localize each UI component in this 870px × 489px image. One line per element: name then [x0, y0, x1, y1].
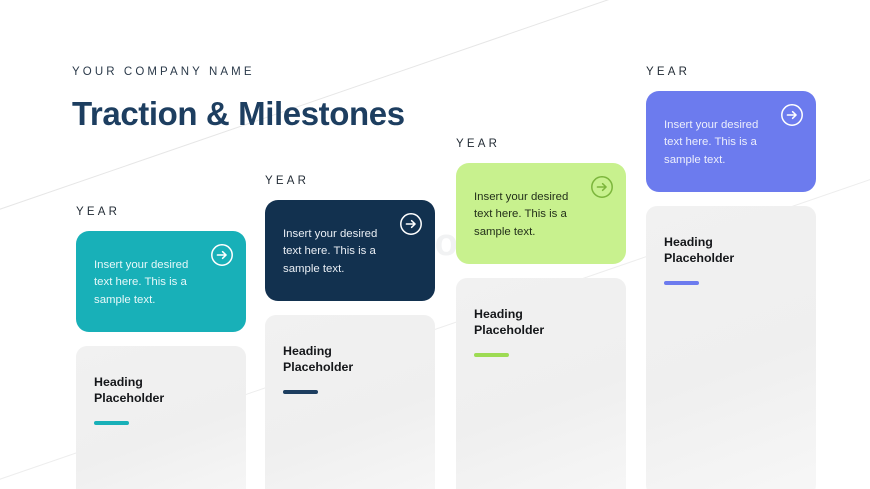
year-label-3: YEAR: [456, 138, 626, 151]
spacer-2: [265, 301, 435, 315]
company-name-eyebrow: YOUR COMPANY NAME: [72, 66, 532, 80]
spacer-1: [76, 332, 246, 346]
milestone-accent-rule-2: [283, 390, 318, 394]
milestone-heading-2: Heading Placeholder: [283, 343, 417, 376]
spacer-3: [456, 264, 626, 278]
milestone-info-card-3[interactable]: Heading Placeholder: [456, 278, 626, 489]
milestone-column-1: YEAR Insert your desired text here. This…: [76, 206, 246, 489]
milestone-info-card-2[interactable]: Heading Placeholder: [265, 315, 435, 489]
milestone-accent-rule-4: [664, 281, 699, 285]
circle-arrow-right-icon[interactable]: [210, 243, 234, 267]
circle-arrow-right-icon[interactable]: [590, 175, 614, 199]
milestone-note-card-1[interactable]: Insert your desired text here. This is a…: [76, 231, 246, 332]
milestone-info-card-1[interactable]: Heading Placeholder: [76, 346, 246, 489]
milestone-heading-3: Heading Placeholder: [474, 306, 608, 339]
circle-arrow-right-icon[interactable]: [780, 103, 804, 127]
slide-header: YOUR COMPANY NAME Traction & Milestones: [72, 66, 532, 132]
milestone-note-card-3[interactable]: Insert your desired text here. This is a…: [456, 163, 626, 264]
milestone-note-text-2: Insert your desired text here. This is a…: [283, 226, 389, 279]
milestone-note-text-4: Insert your desired text here. This is a…: [664, 117, 770, 170]
milestone-heading-1: Heading Placeholder: [94, 374, 228, 407]
milestone-column-4: YEAR Insert your desired text here. This…: [646, 66, 816, 489]
milestone-note-text-1: Insert your desired text here. This is a…: [94, 257, 200, 310]
milestone-accent-rule-1: [94, 421, 129, 425]
year-label-2: YEAR: [265, 175, 435, 188]
milestone-column-2: YEAR Insert your desired text here. This…: [265, 175, 435, 489]
milestone-column-3: YEAR Insert your desired text here. This…: [456, 138, 626, 489]
milestone-note-text-3: Insert your desired text here. This is a…: [474, 189, 580, 242]
year-label-1: YEAR: [76, 206, 246, 219]
milestone-accent-rule-3: [474, 353, 509, 357]
milestone-heading-4: Heading Placeholder: [664, 234, 798, 267]
milestone-info-card-4[interactable]: Heading Placeholder: [646, 206, 816, 489]
year-label-4: YEAR: [646, 66, 816, 79]
milestone-note-card-2[interactable]: Insert your desired text here. This is a…: [265, 200, 435, 301]
slide-canvas: YOUR COMPANY NAME Traction & Milestones …: [0, 0, 870, 489]
spacer-4: [646, 192, 816, 206]
page-title: Traction & Milestones: [72, 96, 532, 132]
milestone-note-card-4[interactable]: Insert your desired text here. This is a…: [646, 91, 816, 192]
circle-arrow-right-icon[interactable]: [399, 212, 423, 236]
